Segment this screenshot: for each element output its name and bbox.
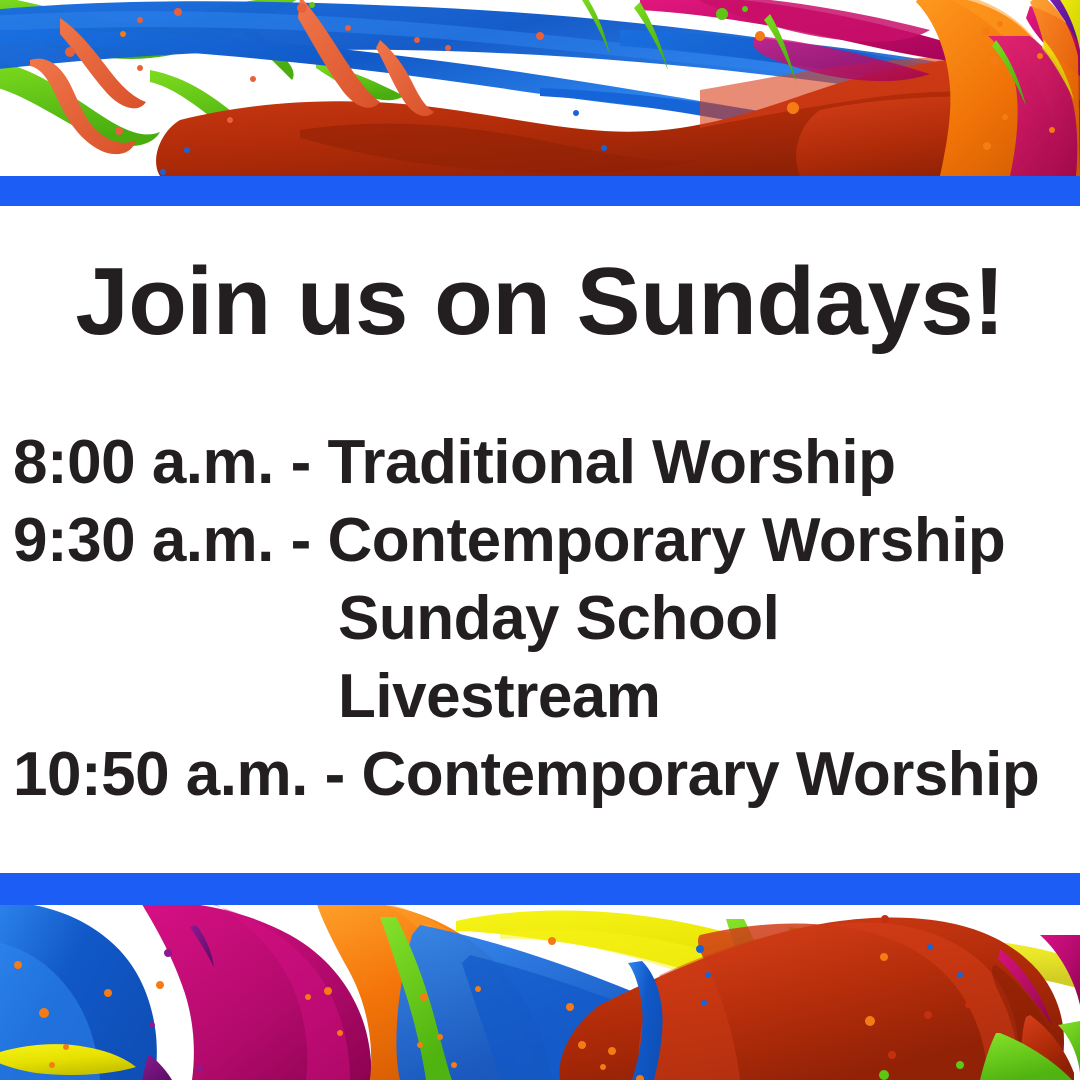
schedule-line-1: 8:00 a.m. - Traditional Worship bbox=[0, 424, 1080, 502]
poster-content: Join us on Sundays! 8:00 a.m. - Traditio… bbox=[0, 206, 1080, 873]
schedule-line-5: 10:50 a.m. - Contemporary Worship bbox=[0, 736, 1080, 814]
schedule-line-2: 9:30 a.m. - Contemporary Worship bbox=[0, 502, 1080, 580]
schedule-line-4: Livestream bbox=[0, 658, 1080, 736]
paint-splash-top bbox=[0, 0, 1080, 176]
page-title: Join us on Sundays! bbox=[0, 250, 1080, 354]
accent-bar-bottom bbox=[0, 873, 1080, 905]
paint-splash-bottom bbox=[0, 905, 1080, 1080]
service-schedule-list: 8:00 a.m. - Traditional Worship 9:30 a.m… bbox=[0, 424, 1080, 814]
poster-canvas: Join us on Sundays! 8:00 a.m. - Traditio… bbox=[0, 0, 1080, 1080]
accent-bar-top bbox=[0, 176, 1080, 206]
schedule-line-3: Sunday School bbox=[0, 580, 1080, 658]
